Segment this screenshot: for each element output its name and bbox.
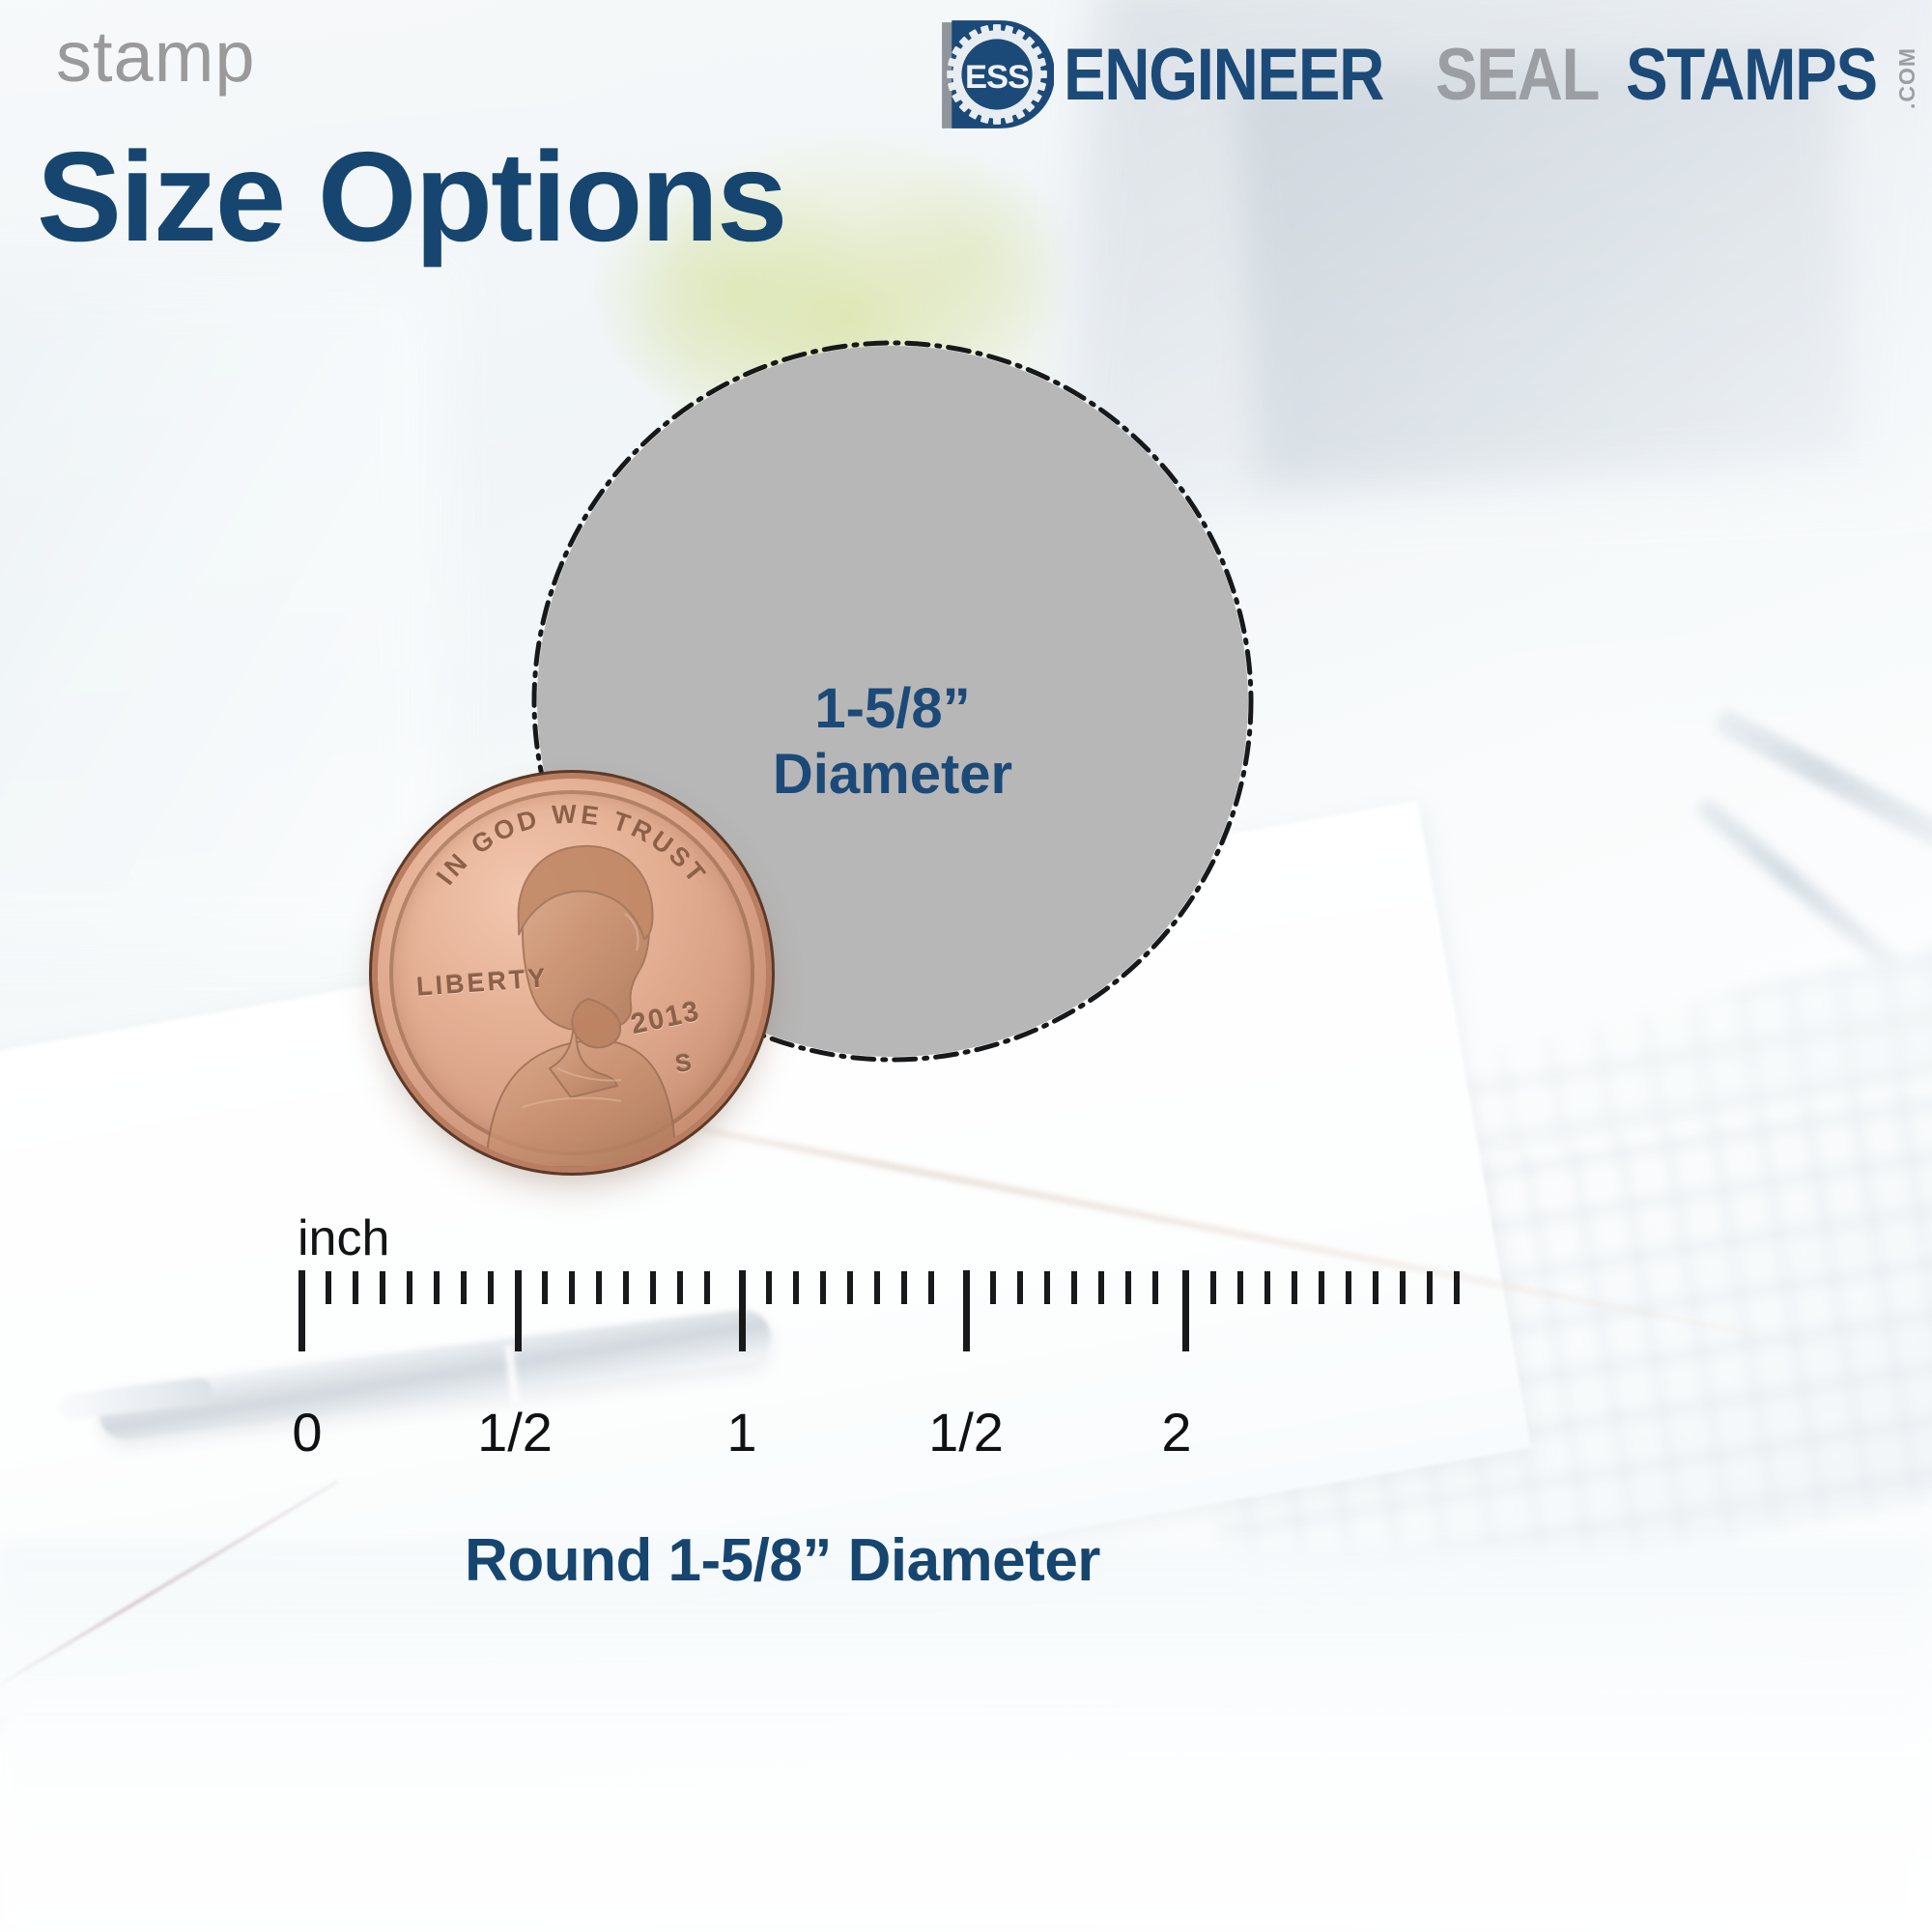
background-desk-surface: [0, 1546, 1932, 1932]
page-title: Size Options: [37, 133, 785, 261]
logo-word-engineer: ENGINEER: [1064, 43, 1383, 108]
reference-penny-coin: IN GOD WE TRUST LIBERTY 2013 S: [378, 779, 766, 1167]
background-pen-second: [1694, 796, 1899, 972]
svg-text:ESS: ESS: [965, 59, 1029, 96]
header-eyebrow: stamp: [56, 21, 256, 93]
brand-logo[interactable]: ESS ENGINEER SEAL STAMPS .COM: [936, 17, 1920, 133]
logo-tld: .COM: [1894, 38, 1920, 109]
size-caption: Round 1-5/8” Diameter: [0, 1526, 1565, 1595]
logo-word-seal: SEAL: [1435, 43, 1599, 108]
logo-wordmark: ENGINEER SEAL STAMPS: [1064, 43, 1918, 108]
logo-word-stamps: STAMPS: [1626, 43, 1877, 108]
ess-shield-gear-icon: ESS: [936, 16, 1054, 134]
ruler-unit-label: inch: [298, 1209, 389, 1267]
